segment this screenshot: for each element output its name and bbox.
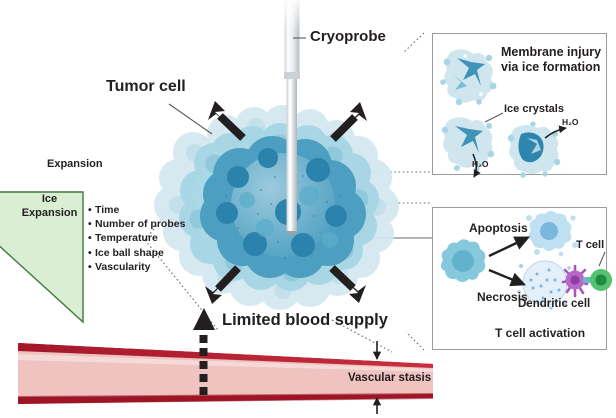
injured-cell-top	[440, 49, 496, 105]
source-tumor-cell	[441, 239, 485, 282]
label-t-cell: T cell	[576, 239, 604, 251]
arrow-necrosis	[489, 270, 523, 284]
label-cryoprobe: Cryoprobe	[310, 29, 386, 46]
panel-membrane-injury: Membrane injury via ice formation Ice cr…	[432, 33, 607, 175]
label-water-right: H₂O	[562, 117, 579, 127]
tumor-halo-nuclei	[169, 118, 386, 299]
panel-membrane-heading: Membrane injury via ice formation	[501, 45, 601, 75]
apoptotic-cell	[523, 211, 578, 256]
label-dendritic-cell: Dendritic cell	[518, 298, 590, 310]
label-ice-expansion: Ice Expansion	[16, 192, 83, 220]
t-cell-leader	[599, 252, 605, 266]
t-cell	[590, 269, 612, 291]
factor-item: Vascularity	[88, 260, 185, 274]
panel-immune-response: Apoptosis Necrosis T cell Dendritic cell…	[432, 207, 607, 350]
tumor-mid-cells	[179, 123, 379, 291]
tumor-halo-cells	[154, 105, 399, 310]
label-apoptosis: Apoptosis	[469, 221, 528, 235]
arrow-apoptosis	[489, 238, 527, 256]
label-vascular-stasis: Vascular stasis	[348, 372, 431, 385]
ice-crystals-leader	[485, 113, 503, 122]
tumor-mid-nuclei	[190, 135, 369, 282]
label-tumor-cell: Tumor cell	[106, 78, 186, 96]
limited-blood-supply-arrow	[193, 308, 215, 395]
tumor-core-mass	[200, 136, 366, 278]
factor-item: Time	[88, 203, 185, 217]
label-ice-expansion-line2: Expansion	[16, 206, 83, 220]
label-leaders	[169, 38, 306, 134]
panel-membrane-heading-line2: via ice formation	[501, 60, 601, 75]
label-ice-crystals: Ice crystals	[504, 103, 564, 115]
injured-cell-lower-right	[508, 121, 560, 177]
label-water-left: H₂O	[472, 159, 489, 169]
factor-item: Ice ball shape	[88, 246, 185, 260]
guide-lines	[145, 33, 432, 352]
panel-membrane-heading-line1: Membrane injury	[501, 45, 601, 60]
expansion-arrows	[205, 101, 367, 304]
factor-item: Number of probes	[88, 217, 185, 231]
figure-canvas: Cryoprobe Tumor cell Expansion Ice Expan…	[0, 0, 616, 418]
expansion-arrow-shafts	[218, 116, 355, 289]
factor-item: Temperature	[88, 231, 185, 245]
label-ice-expansion-line1: Ice	[16, 192, 83, 206]
label-limited-blood-supply: Limited blood supply	[222, 311, 388, 329]
label-expansion: Expansion	[47, 158, 103, 170]
cryoprobe-needle	[284, 0, 300, 236]
panel-immune-caption: T cell activation	[495, 326, 585, 340]
factor-list: Time Number of probes Temperature Ice ba…	[88, 203, 185, 274]
